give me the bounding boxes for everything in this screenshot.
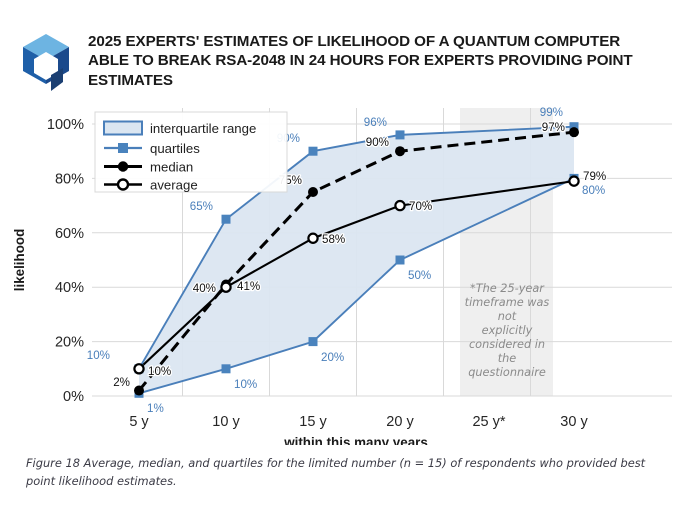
data-label-median-5: 2% (113, 376, 130, 389)
ytick-80: 80% (55, 171, 84, 187)
note-line-4: considered in (469, 338, 545, 351)
data-label-lq-5: 1% (147, 402, 164, 415)
chart-plot-area: 10% 65% 90% 96% 99% 1% 10% 20% 50% 80% 2… (0, 100, 680, 445)
xtick-30y: 30 y (560, 414, 588, 430)
data-label-uq-5: 10% (87, 349, 110, 362)
data-label-lq-10: 10% (234, 378, 257, 391)
page-title: 2025 EXPERTS' ESTIMATES OF LIKELIHOOD OF… (88, 30, 656, 90)
y-axis-title: likelihood (12, 229, 27, 292)
data-label-average-10: 40% (193, 282, 216, 295)
note-line-5: the (498, 352, 517, 365)
black-dot-icon (118, 161, 128, 171)
data-label-median-20: 90% (366, 136, 389, 149)
data-label-average-5: 10% (148, 365, 171, 378)
note-line-6: questionnaire (468, 366, 546, 379)
chart-legend[interactable]: interquartile range quartiles median ave… (95, 112, 287, 193)
ytick-100: 100% (47, 117, 84, 133)
xtick-25y: 25 y* (472, 414, 505, 430)
ytick-0: 0% (63, 389, 84, 405)
xtick-20y: 20 y (386, 414, 414, 430)
quantum-cube-logo-icon (18, 32, 74, 94)
figure-caption: Figure 18 Average, median, and quartiles… (26, 455, 652, 490)
data-label-average-20: 70% (409, 200, 432, 213)
data-label-median-10: 41% (237, 280, 260, 293)
data-label-median-30: 97% (542, 121, 565, 134)
data-label-average-15: 58% (322, 233, 345, 246)
data-label-average-30: 79% (583, 170, 606, 183)
xtick-15y: 15 y (299, 414, 327, 430)
data-label-lq-20: 50% (408, 269, 431, 282)
data-label-lq-30: 80% (582, 184, 605, 197)
note-line-2: not (498, 310, 517, 323)
data-label-uq-30: 99% (540, 106, 563, 119)
chart-header: 2025 EXPERTS' ESTIMATES OF LIKELIHOOD OF… (0, 0, 680, 100)
xtick-10y: 10 y (212, 414, 240, 430)
filled-rect-icon (104, 122, 142, 135)
note-line-3: explicitly (482, 324, 533, 337)
legend-label-median: median (150, 160, 193, 175)
xtick-5y: 5 y (129, 414, 149, 430)
legend-item-interquartile-range[interactable]: interquartile range (104, 121, 256, 136)
data-label-lq-15: 20% (321, 351, 344, 364)
legend-label-average: average (150, 178, 198, 193)
ytick-40: 40% (55, 280, 84, 296)
blue-square-icon (118, 143, 128, 153)
ytick-60: 60% (55, 226, 84, 242)
note-line-0: *The 25-year (470, 282, 545, 295)
legend-label-interquartile-range: interquartile range (150, 121, 256, 136)
data-label-uq-10: 65% (190, 200, 213, 213)
note-line-1: timeframe was (465, 296, 550, 309)
legend-label-quartiles: quartiles (150, 141, 200, 156)
ytick-20: 20% (55, 335, 84, 351)
x-axis-title: within this many years (283, 435, 428, 445)
hollow-dot-icon (118, 180, 128, 190)
data-label-uq-20: 96% (364, 116, 387, 129)
